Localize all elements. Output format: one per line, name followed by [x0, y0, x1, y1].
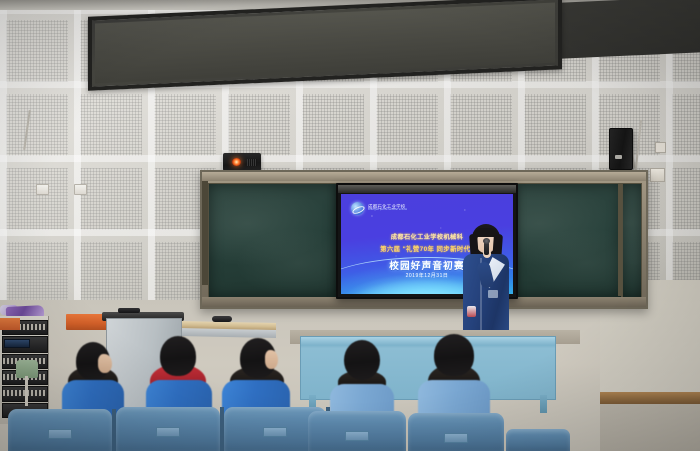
banner-surface [95, 3, 555, 84]
stool-leg [25, 376, 28, 406]
school-logo-en: chengdu petrochemical school [368, 209, 407, 212]
wooden-baseboard [600, 392, 700, 404]
audience-student-5 [418, 334, 490, 424]
audience-student-1 [62, 340, 124, 420]
chalkboard-panel-far-right [622, 183, 642, 298]
presenter-badge [467, 306, 476, 317]
auditorium-chair-4[interactable] [308, 411, 406, 451]
student-1-face [98, 354, 112, 373]
chair-4-plate [345, 431, 369, 441]
orange-trim-left [0, 318, 20, 330]
projector-lens-icon [232, 158, 241, 166]
auditorium-chair-6[interactable] [506, 429, 570, 451]
chair-5-plate [444, 433, 468, 443]
student-2-head [160, 336, 196, 376]
school-logo: 成都石化工业学校 chengdu petrochemical school [351, 202, 407, 215]
wall-switch-left-2[interactable] [74, 184, 87, 195]
banner-right-extension [540, 0, 700, 60]
podium-object[interactable] [118, 308, 140, 313]
chair-2-plate [156, 427, 180, 437]
student-5-head [434, 334, 474, 376]
student-3-face [265, 350, 278, 369]
desk-object[interactable] [212, 316, 232, 322]
auditorium-scene: 成都石化工业学校 chengdu petrochemical school 成都… [0, 0, 700, 451]
speaker-label-dot [615, 155, 622, 159]
school-logo-icon [351, 202, 364, 215]
auditorium-chair-2[interactable] [116, 407, 220, 451]
wall-speaker [609, 128, 633, 170]
right-lower-wall [600, 404, 700, 451]
auditorium-chair-5[interactable] [408, 413, 504, 451]
microphone-head-icon [483, 238, 490, 244]
green-stool[interactable] [16, 360, 38, 404]
chalkboard-panel-left [208, 183, 338, 298]
screen-bezel [338, 185, 516, 193]
chair-1-plate [48, 429, 72, 439]
projector [223, 153, 261, 171]
judges-table-leg-right [540, 395, 547, 413]
audience-student-4 [330, 340, 394, 422]
chair-3-plate [263, 427, 287, 437]
wall-mount-bracket [655, 142, 666, 153]
projector-vent [247, 159, 257, 166]
chalkboard-top-rail [202, 172, 646, 181]
wall-junction-box [650, 168, 665, 182]
presenter-singer [455, 224, 517, 346]
presenter-jacket-emblem [488, 290, 498, 298]
auditorium-chair-1[interactable] [8, 409, 112, 451]
chalkboard-panel-right [504, 183, 622, 298]
student-4-head [344, 340, 380, 380]
wall-switch-left[interactable] [36, 184, 49, 195]
rack-display [4, 339, 30, 348]
